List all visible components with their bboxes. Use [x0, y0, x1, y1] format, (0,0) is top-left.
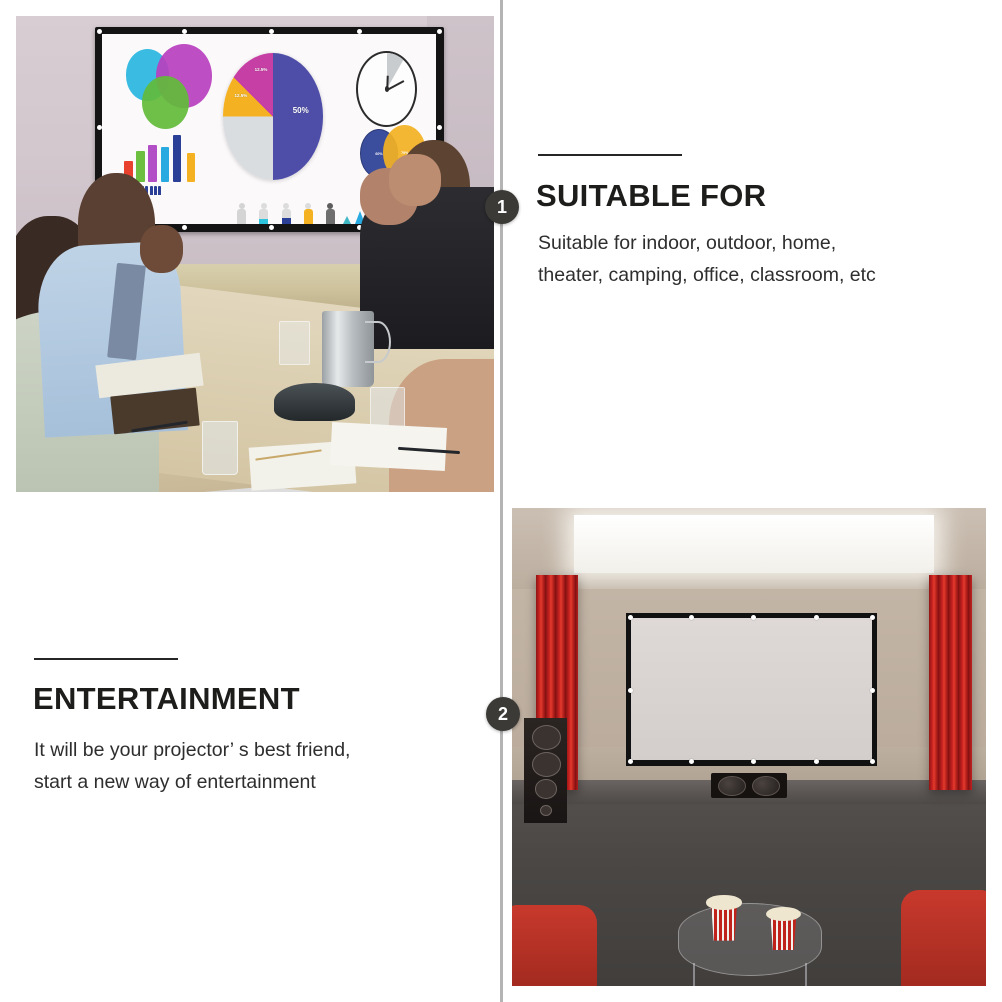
slide-figure: [302, 203, 314, 224]
section-1-body-line: Suitable for indoor, outdoor, home,: [538, 228, 876, 260]
armchair-right: [901, 890, 986, 986]
screen-grommet: [870, 615, 875, 620]
section-2-title: ENTERTAINMENT: [33, 681, 300, 717]
speaker-driver: [718, 776, 746, 796]
screen-grommet: [437, 125, 442, 130]
section-2-body-line: It will be your projector’ s best friend…: [34, 735, 350, 767]
center-speaker: [711, 773, 787, 798]
water-glass-3: [279, 321, 310, 366]
slide-bubble-green: [142, 76, 189, 129]
attendee-blue-hand: [140, 225, 183, 273]
slide-bar: [148, 145, 156, 182]
speaker-port: [540, 805, 552, 816]
slide-pie-label-125a: 12.5%: [255, 67, 268, 72]
water-glass: [202, 421, 237, 475]
slide-pie-label-50: 50%: [293, 106, 309, 115]
screen-grommet: [97, 29, 102, 34]
screen-grommet: [269, 29, 274, 34]
slide-pie-label-125b: 12.5%: [235, 93, 248, 98]
carafe-handle: [365, 321, 391, 363]
slide-bar: [136, 151, 144, 182]
screen-grommet: [269, 225, 274, 230]
section-1-body: Suitable for indoor, outdoor, home, thea…: [538, 228, 876, 291]
theater-screen-surface: [631, 618, 872, 760]
screen-grommet: [628, 759, 633, 764]
table-leg: [693, 963, 695, 986]
section-1-rule: [538, 154, 682, 156]
slide-triangle: [343, 216, 351, 224]
screen-grommet: [870, 759, 875, 764]
speaker-driver: [532, 752, 561, 777]
slide-clock-icon: [356, 51, 417, 127]
slide-figure: [324, 203, 336, 224]
ceiling-light-panel: [574, 515, 934, 572]
armchair-left: [512, 905, 597, 986]
speaker-driver: [535, 779, 557, 799]
step-badge-1: 1: [485, 190, 519, 224]
slide-bar: [173, 135, 181, 182]
infographic-canvas: 50% 12.5% 12.5% 60% 79%: [0, 0, 1002, 1002]
vertical-divider: [500, 0, 503, 1002]
slide-figure: [236, 203, 248, 224]
screen-grommet: [437, 29, 442, 34]
screen-grommet: [870, 688, 875, 693]
attendee-right-hand-2: [389, 154, 442, 206]
section-2-body-line: start a new way of entertainment: [34, 767, 350, 799]
table-leg: [805, 963, 807, 986]
slide-bar-chart: [122, 133, 216, 182]
screen-grommet: [814, 759, 819, 764]
slide-figure: [280, 203, 292, 224]
slide-bar: [187, 153, 195, 182]
screen-grommet: [689, 759, 694, 764]
popcorn-kernels: [706, 895, 742, 909]
popcorn-bucket: [768, 917, 799, 950]
screen-grommet: [97, 125, 102, 130]
clock-center-dot: [385, 86, 390, 92]
section-1-body-line: theater, camping, office, classroom, etc: [538, 260, 876, 292]
section-1-title: SUITABLE FOR: [536, 178, 766, 214]
screen-grommet: [751, 759, 756, 764]
screen-grommet: [182, 29, 187, 34]
popcorn-bucket: [709, 905, 740, 941]
clock-sector: [387, 53, 415, 89]
slide-figure: [258, 203, 270, 224]
speaker-driver: [532, 725, 561, 750]
theater-projector-screen: [626, 613, 877, 766]
speaker-driver: [752, 776, 780, 796]
screen-grommet: [689, 615, 694, 620]
curtain-right: [929, 575, 972, 790]
screen-grommet: [628, 688, 633, 693]
section-2-body: It will be your projector’ s best friend…: [34, 735, 350, 798]
slide-bar: [161, 147, 169, 182]
document-paper-2: [330, 422, 447, 471]
screen-grommet: [182, 225, 187, 230]
photo-home-theater: [512, 508, 986, 986]
slide-pie-chart: 50% 12.5% 12.5%: [223, 53, 323, 180]
conference-phone: [274, 383, 355, 421]
photo-conference-room: 50% 12.5% 12.5% 60% 79%: [16, 16, 494, 492]
section-2-rule: [34, 658, 178, 660]
screen-grommet: [357, 29, 362, 34]
screen-grommet: [628, 615, 633, 620]
tower-speaker: [524, 718, 567, 823]
step-badge-2: 2: [486, 697, 520, 731]
slide-figure-group: [236, 182, 336, 224]
